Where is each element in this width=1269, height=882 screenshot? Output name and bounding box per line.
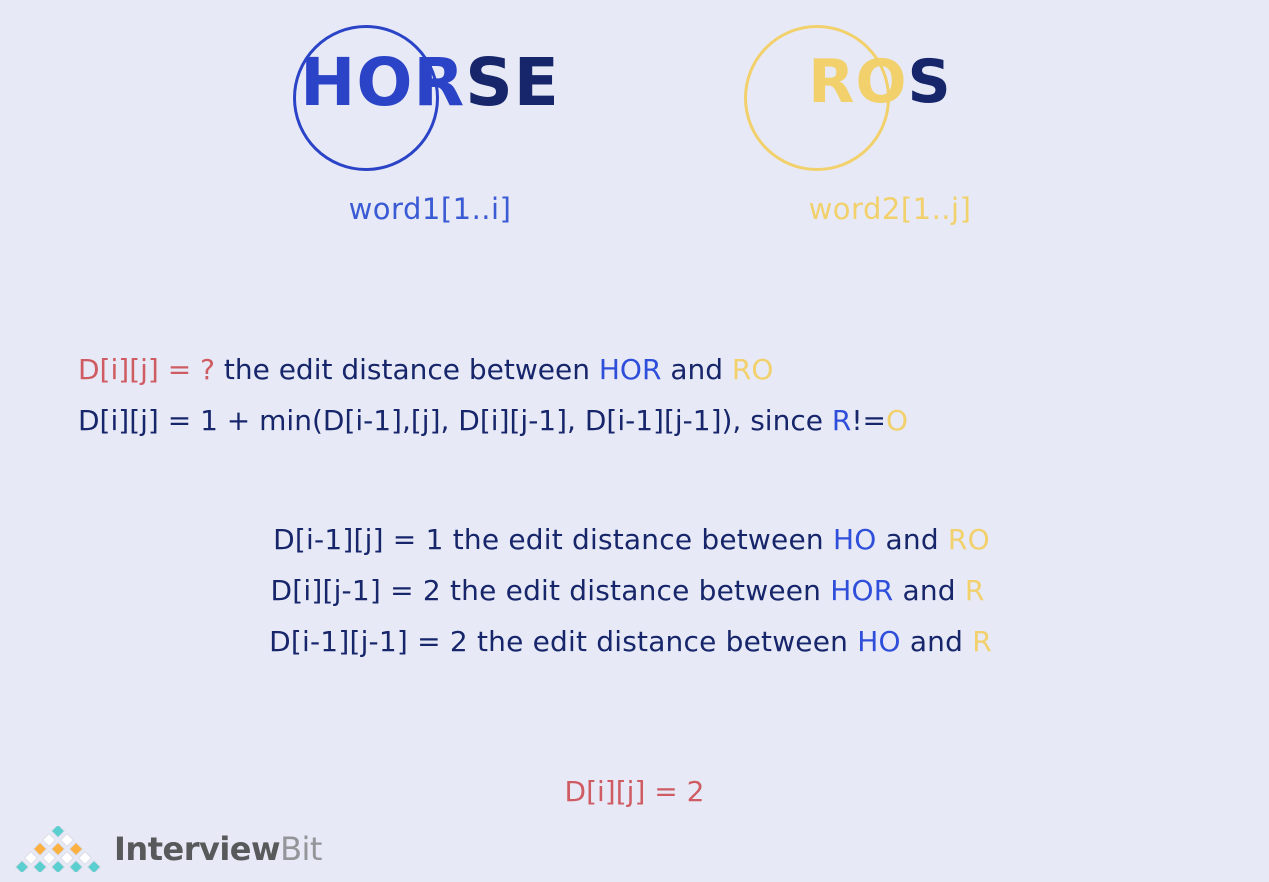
subproblem-3-word1: HO bbox=[857, 625, 901, 658]
compare-operator: != bbox=[851, 404, 886, 437]
word1-prefix: HOR bbox=[300, 44, 465, 121]
word-diagrams-row: HORSE word1[1..i] ROS word2[1..j] bbox=[0, 0, 1269, 250]
word2-suffix: S bbox=[908, 47, 952, 117]
subproblem-line-substitution: D[i-1][j-1] = 2 the edit distance betwee… bbox=[0, 616, 1269, 667]
recurrence-formula: D[i][j] = 1 + min(D[i-1],[j], D[i][j-1],… bbox=[78, 404, 832, 437]
subproblem-3-and: and bbox=[901, 625, 972, 658]
subproblem-2-and: and bbox=[893, 574, 964, 607]
subproblem-block: D[i-1][j] = 1 the edit distance between … bbox=[0, 514, 1269, 667]
compare-left-char: R bbox=[832, 404, 851, 437]
formula-line-recurrence: D[i][j] = 1 + min(D[i-1],[j], D[i][j-1],… bbox=[78, 395, 1238, 446]
subproblem-line-deletion: D[i-1][j] = 1 the edit distance between … bbox=[0, 514, 1269, 565]
interviewbit-diamond-mark bbox=[12, 826, 104, 872]
line1-word2-substr: RO bbox=[732, 353, 774, 386]
subproblem-3-word2: R bbox=[972, 625, 992, 658]
word2-label: word2[1..j] bbox=[700, 192, 1080, 226]
subproblem-1-middle: the edit distance between bbox=[444, 523, 833, 556]
formula-line-question: D[i][j] = ? the edit distance between HO… bbox=[78, 344, 1238, 395]
result-block: D[i][j] = 2 bbox=[0, 766, 1269, 817]
subproblem-3-cell: D[i-1][j-1] = 2 bbox=[269, 625, 468, 658]
subproblem-2-cell: D[i][j-1] = 2 bbox=[270, 574, 440, 607]
line1-middle-text: the edit distance between bbox=[215, 353, 599, 386]
subproblem-1-cell: D[i-1][j] = 1 bbox=[273, 523, 443, 556]
word1-label: word1[1..i] bbox=[240, 192, 620, 226]
interviewbit-logo[interactable]: InterviewBit bbox=[12, 824, 322, 874]
word1-text: HORSE bbox=[240, 50, 620, 116]
logo-name-bold: Interview bbox=[114, 830, 280, 868]
top-formula-block: D[i][j] = ? the edit distance between HO… bbox=[78, 344, 1238, 446]
word1-suffix: SE bbox=[465, 44, 560, 121]
word2-prefix: RO bbox=[808, 47, 907, 117]
subproblem-line-insertion: D[i][j-1] = 2 the edit distance between … bbox=[0, 565, 1269, 616]
dp-cell-unknown: D[i][j] = ? bbox=[78, 353, 215, 386]
subproblem-1-and: and bbox=[876, 523, 947, 556]
subproblem-3-middle: the edit distance between bbox=[468, 625, 857, 658]
subproblem-1-word2: RO bbox=[948, 523, 990, 556]
line1-and: and bbox=[661, 353, 731, 386]
compare-right-char: O bbox=[886, 404, 908, 437]
line1-word1-substr: HOR bbox=[599, 353, 662, 386]
logo-name-light: Bit bbox=[280, 830, 322, 868]
result-value: D[i][j] = 2 bbox=[0, 766, 1269, 817]
subproblem-2-word1: HOR bbox=[830, 574, 893, 607]
subproblem-2-middle: the edit distance between bbox=[441, 574, 830, 607]
subproblem-2-word2: R bbox=[965, 574, 985, 607]
subproblem-1-word1: HO bbox=[833, 523, 877, 556]
interviewbit-wordmark: InterviewBit bbox=[114, 833, 322, 865]
word2-text: ROS bbox=[690, 52, 1070, 112]
